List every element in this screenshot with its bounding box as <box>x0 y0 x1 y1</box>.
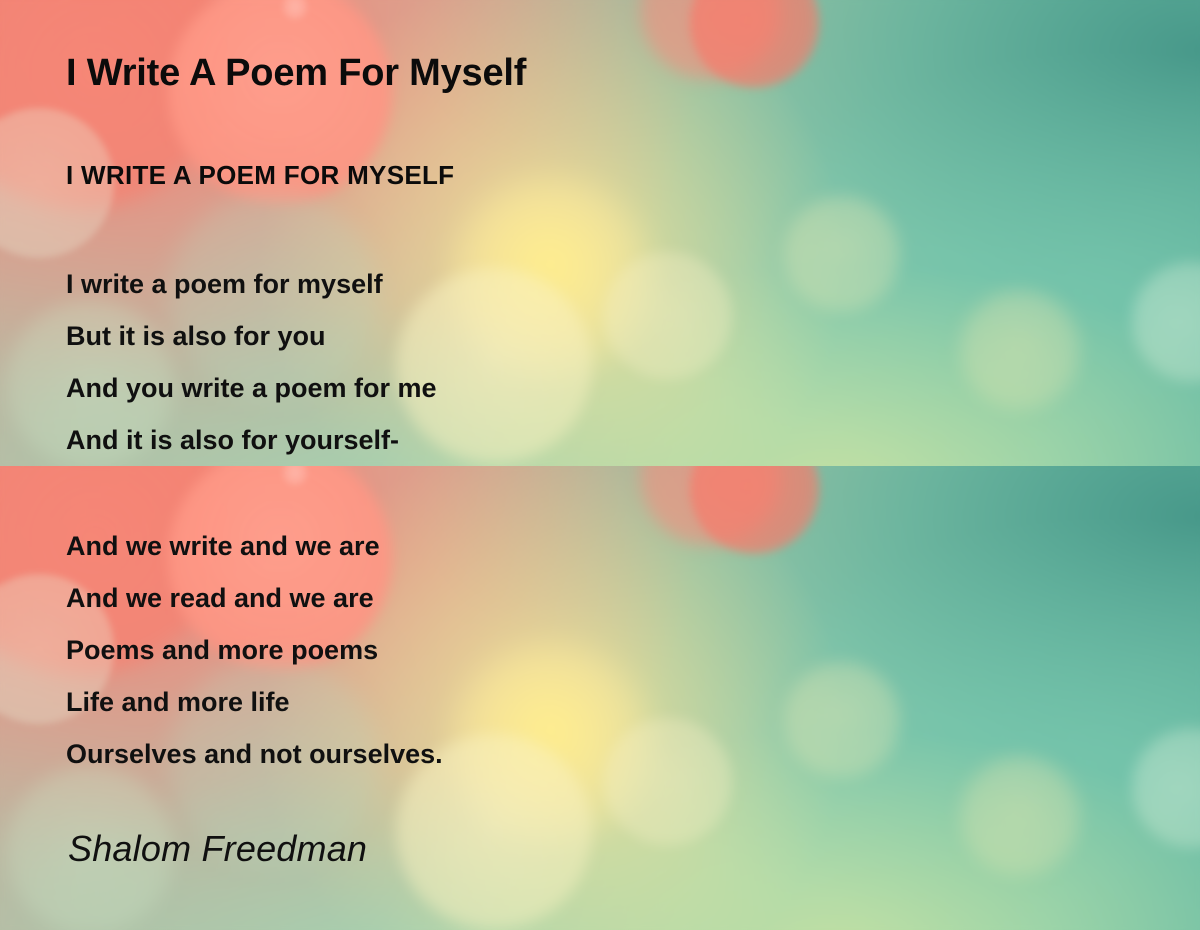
poem-line: I write a poem for myself <box>66 258 437 310</box>
poem-line: Poems and more poems <box>66 624 443 676</box>
poem-line: And we read and we are <box>66 572 443 624</box>
poem-line: Ourselves and not ourselves. <box>66 728 443 780</box>
poem-line: But it is also for you <box>66 310 437 362</box>
poem-author: Shalom Freedman <box>68 828 367 870</box>
poem-title: I Write A Poem For Myself <box>66 52 526 95</box>
poem-line: And we write and we are <box>66 520 443 572</box>
poem-line: And it is also for yourself- <box>66 414 437 466</box>
poem-line: Life and more life <box>66 676 443 728</box>
poem-card: I Write A Poem For Myself I WRITE A POEM… <box>0 0 1200 930</box>
poem-stanza-1: I write a poem for myself But it is also… <box>66 258 437 466</box>
poem-content: I Write A Poem For Myself I WRITE A POEM… <box>0 0 1200 930</box>
poem-stanza-2: And we write and we are And we read and … <box>66 520 443 780</box>
poem-heading: I WRITE A POEM FOR MYSELF <box>66 160 454 191</box>
poem-line: And you write a poem for me <box>66 362 437 414</box>
